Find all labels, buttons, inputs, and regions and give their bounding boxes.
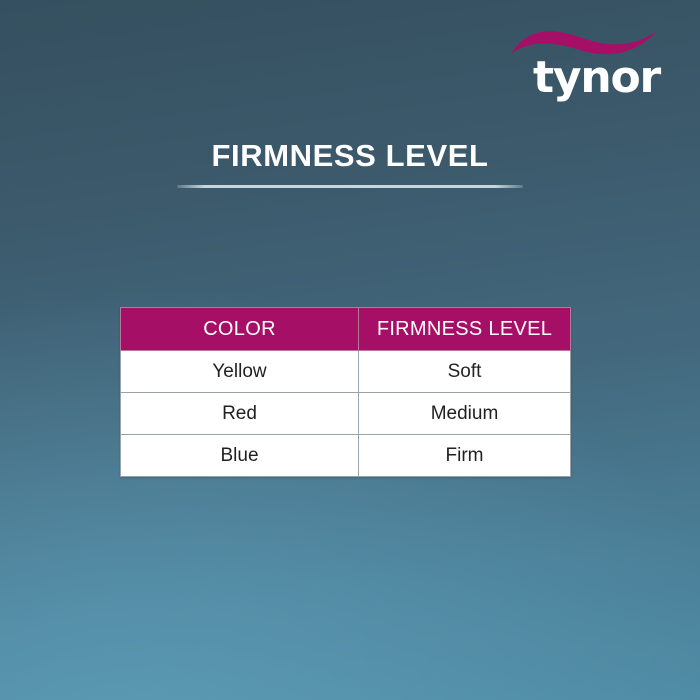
column-header-color: COLOR	[121, 308, 359, 351]
table-row: Yellow Soft	[121, 351, 571, 393]
title-underline-divider	[177, 185, 523, 188]
table-header-row: COLOR FIRMNESS LEVEL	[121, 308, 571, 351]
cell-firmness: Medium	[359, 393, 571, 435]
table-row: Blue Firm	[121, 435, 571, 477]
firmness-level-table: COLOR FIRMNESS LEVEL Yellow Soft Red Med…	[120, 307, 571, 477]
cell-color: Red	[121, 393, 359, 435]
poster-canvas: tynor FIRMNESS LEVEL COLOR FIRMNESS LEVE…	[0, 0, 700, 700]
brand-wordmark: tynor	[500, 52, 660, 104]
cell-color: Yellow	[121, 351, 359, 393]
table-row: Red Medium	[121, 393, 571, 435]
cell-firmness: Firm	[359, 435, 571, 477]
column-header-firmness-level: FIRMNESS LEVEL	[359, 308, 571, 351]
title-block: FIRMNESS LEVEL	[0, 137, 700, 188]
tynor-logo: tynor	[500, 22, 660, 106]
cell-color: Blue	[121, 435, 359, 477]
cell-firmness: Soft	[359, 351, 571, 393]
page-title: FIRMNESS LEVEL	[0, 137, 700, 175]
